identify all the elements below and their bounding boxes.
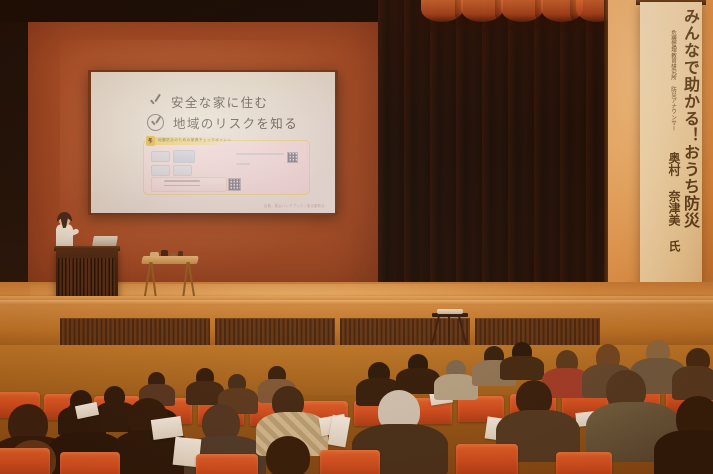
seat	[60, 452, 120, 474]
slide-bullet-2-label: 地域のリスクを知る	[173, 113, 298, 132]
slide-bullet-1-label: 安全な家に住む	[171, 92, 268, 111]
slide-icon-grid	[151, 151, 229, 175]
mic-stand-top-object	[437, 309, 463, 314]
qr-code-icon	[287, 152, 298, 163]
slide-bullet-2: 地域のリスクを知る	[147, 113, 298, 132]
seat	[320, 450, 380, 474]
check-icon	[148, 95, 162, 109]
banner-main-text: みんなで助かる！おうち防災	[682, 8, 698, 284]
curtain-valance	[415, 0, 615, 34]
slide-card-text-lines	[236, 153, 288, 170]
stage-top-shadow	[0, 0, 420, 22]
seat	[456, 444, 518, 474]
mic-stand-leg	[448, 316, 450, 348]
hanging-banner: みんなで助かる！おうち防災 危機管理教育研究所 防災アナウンサー 奥村 奈津美 …	[640, 2, 702, 290]
seat	[556, 452, 612, 474]
slide-bullet-1: 安全な家に住む	[148, 92, 268, 111]
slide-footnote: 出典：防災ハンドブック／東京都防災	[264, 203, 325, 208]
lightning-icon	[146, 136, 155, 146]
banner-sub-text: 危機管理教育研究所 防災アナウンサー	[670, 30, 676, 140]
seat	[0, 448, 50, 474]
laptop-on-podium	[92, 236, 118, 246]
qr-code-icon-secondary	[228, 178, 241, 191]
slide-card-tab-label: 地震防災のための家具チェックポイント	[158, 138, 232, 143]
auditorium-photo: みんなで助かる！おうち防災 危機管理教育研究所 防災アナウンサー 奥村 奈津美 …	[0, 0, 713, 474]
slide-content-card	[143, 140, 310, 195]
slide-card-footer-lines	[164, 180, 200, 189]
check-circled-icon	[147, 114, 164, 131]
stage-curtain-folds	[378, 0, 616, 300]
banner-presenter-name: 奥村 奈津美 氏	[667, 152, 680, 272]
seat	[196, 454, 258, 474]
